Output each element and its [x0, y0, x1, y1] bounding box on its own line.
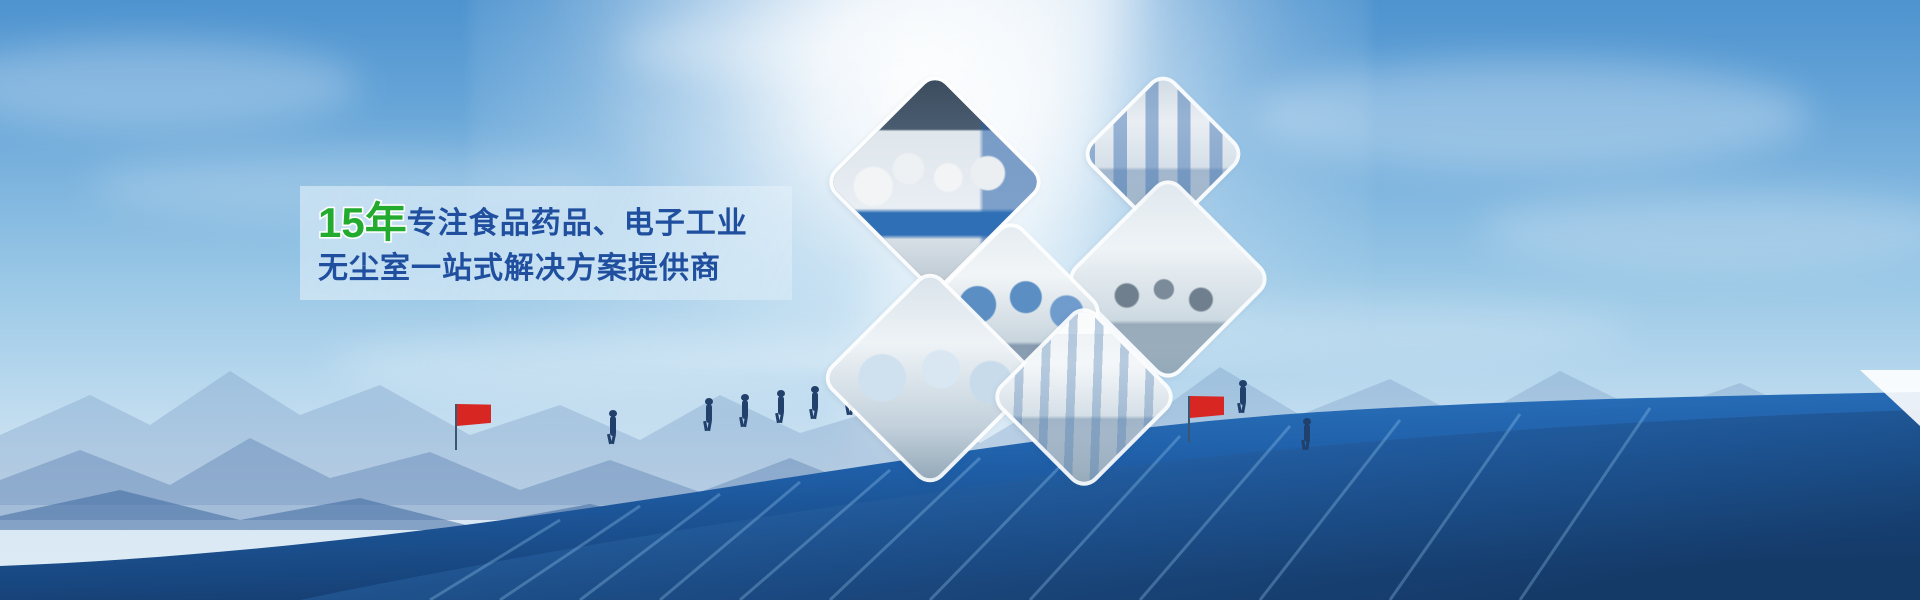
hero-banner: 15年专注食品药品、电子工业 无尘室一站式解决方案提供商 [0, 0, 1920, 600]
flag-cloth [457, 404, 491, 426]
years-badge: 15年 [318, 199, 407, 246]
headline-line-1-text: 专注食品药品、电子工业 [407, 207, 748, 240]
headline-block: 15年专注食品药品、电子工业 无尘室一站式解决方案提供商 [318, 200, 788, 292]
headline-line-1: 15年专注食品药品、电子工业 [318, 200, 788, 246]
cloud [1250, 60, 1810, 170]
photo-collage [845, 98, 1275, 463]
headline-line-2: 无尘室一站式解决方案提供商 [318, 246, 788, 292]
flag-pole [455, 404, 457, 450]
headline-line-2-text: 无尘室一站式解决方案提供商 [318, 252, 721, 285]
